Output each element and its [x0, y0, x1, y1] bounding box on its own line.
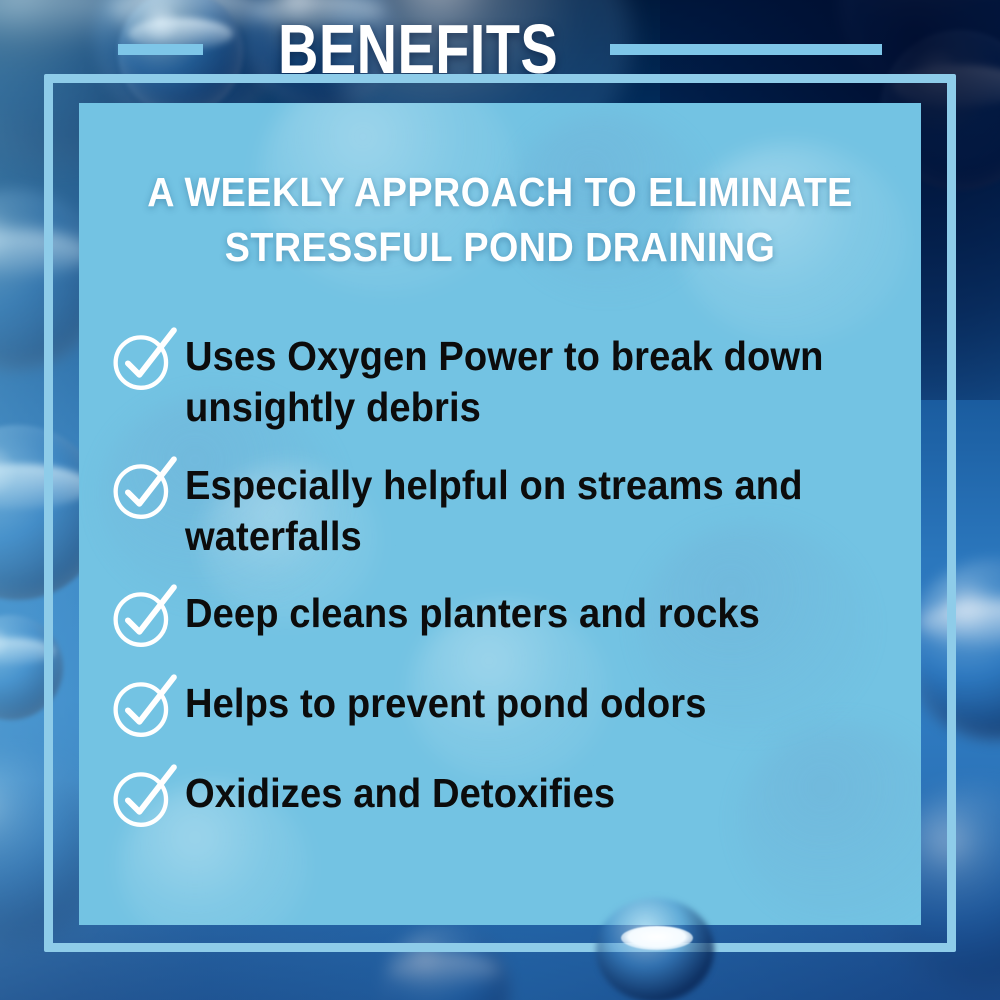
list-item-label: Helps to prevent pond odors [185, 674, 707, 729]
list-item-label: Oxidizes and Detoxifies [185, 764, 615, 819]
check-circle-icon [107, 452, 179, 524]
panel-subtitle-line-2: STRESSFUL POND DRAINING [113, 220, 888, 275]
check-circle-icon [107, 760, 179, 832]
list-item: Uses Oxygen Power to break down unsightl… [107, 327, 903, 434]
list-item: Deep cleans planters and rocks [107, 584, 903, 652]
benefits-infographic: BENEFITS A WEEKLY APPROACH TO ELIMINATE … [0, 0, 1000, 1000]
check-circle-icon [107, 670, 179, 742]
list-item: Oxidizes and Detoxifies [107, 764, 903, 832]
check-circle-icon [107, 323, 179, 395]
benefits-list: Uses Oxygen Power to break down unsightl… [107, 327, 903, 854]
water-droplet-highlight [621, 926, 693, 950]
list-item-label: Especially helpful on streams and waterf… [185, 456, 853, 563]
list-item: Especially helpful on streams and waterf… [107, 456, 903, 563]
list-item-label: Deep cleans planters and rocks [185, 584, 760, 639]
panel-subtitle-line-1: A WEEKLY APPROACH TO ELIMINATE [113, 165, 888, 220]
check-circle-icon [107, 580, 179, 652]
content-panel: A WEEKLY APPROACH TO ELIMINATE STRESSFUL… [79, 103, 921, 925]
horizontal-rule-icon-right [610, 44, 882, 55]
list-item-label: Uses Oxygen Power to break down unsightl… [185, 327, 853, 434]
panel-subtitle: A WEEKLY APPROACH TO ELIMINATE STRESSFUL… [113, 165, 888, 275]
horizontal-rule-icon-left [118, 44, 203, 55]
list-item: Helps to prevent pond odors [107, 674, 903, 742]
